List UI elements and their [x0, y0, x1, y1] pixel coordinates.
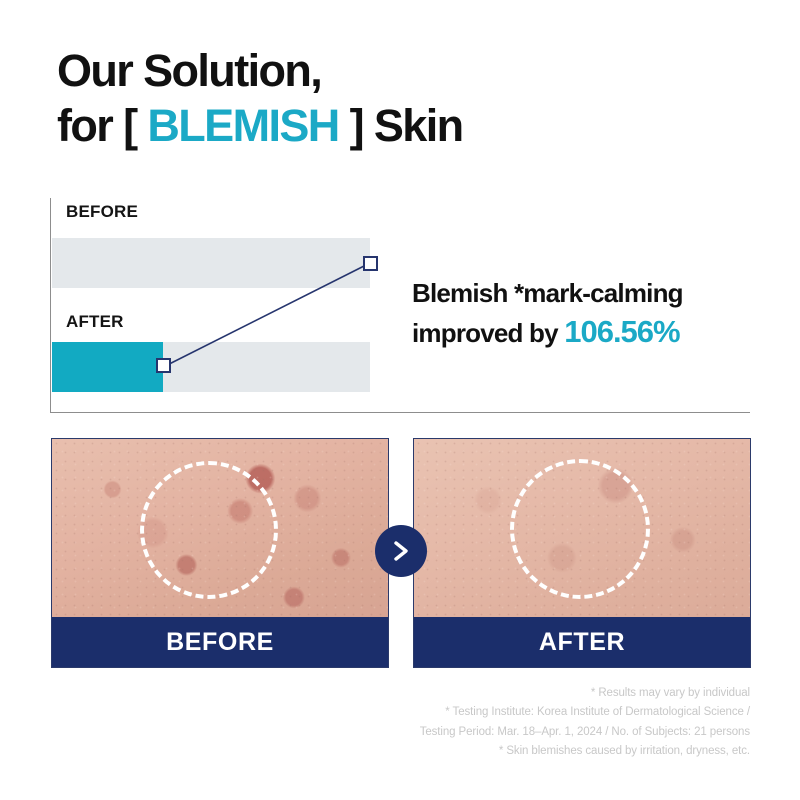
headline-accent-word: BLEMISH: [147, 100, 338, 151]
photo-label-before: BEFORE: [52, 617, 388, 667]
chevron-right-icon: [375, 525, 427, 577]
highlight-circle-icon: [140, 461, 278, 599]
result-line-2: improved by 106.56%: [412, 311, 752, 352]
result-prefix: improved by: [412, 318, 564, 348]
photo-label-after: AFTER: [414, 617, 750, 667]
result-percentage: 106.56%: [564, 314, 679, 349]
chart-horizontal-axis: [50, 412, 750, 413]
chart-bar-before: [52, 238, 370, 288]
headline-suffix: ] Skin: [339, 100, 463, 151]
skin-photo-after: [414, 439, 750, 619]
chart-bar-after: [52, 342, 370, 392]
headline-prefix: for [: [57, 100, 147, 151]
chart-vertical-axis: [50, 198, 51, 412]
footnote-line-4: * Skin blemishes caused by irritation, d…: [330, 742, 750, 761]
footnote-line-2: * Testing Institute: Korea Institute of …: [330, 703, 750, 722]
photo-card-after: AFTER: [413, 438, 751, 668]
chart-label-before: BEFORE: [66, 202, 138, 222]
result-statement: Blemish *mark-calming improved by 106.56…: [412, 276, 752, 352]
chevron-right-glyph: [391, 539, 411, 563]
footnote-line-3: Testing Period: Mar. 18–Apr. 1, 2024 / N…: [330, 723, 750, 742]
result-line-1: Blemish *mark-calming: [412, 276, 752, 311]
chart-marker-after: [156, 358, 171, 373]
footnotes: * Results may vary by individual * Testi…: [330, 684, 750, 761]
headline-line-1: Our Solution,: [57, 44, 463, 99]
headline-line-2: for [ BLEMISH ] Skin: [57, 99, 463, 154]
chart-label-after: AFTER: [66, 312, 124, 332]
page-headline: Our Solution, for [ BLEMISH ] Skin: [57, 44, 463, 154]
chart-bar-after-fill: [52, 342, 163, 392]
photo-card-before: BEFORE: [51, 438, 389, 668]
chart-marker-before: [363, 256, 378, 271]
highlight-circle-icon: [510, 459, 650, 599]
footnote-line-1: * Results may vary by individual: [330, 684, 750, 703]
skin-photo-before: [52, 439, 388, 619]
